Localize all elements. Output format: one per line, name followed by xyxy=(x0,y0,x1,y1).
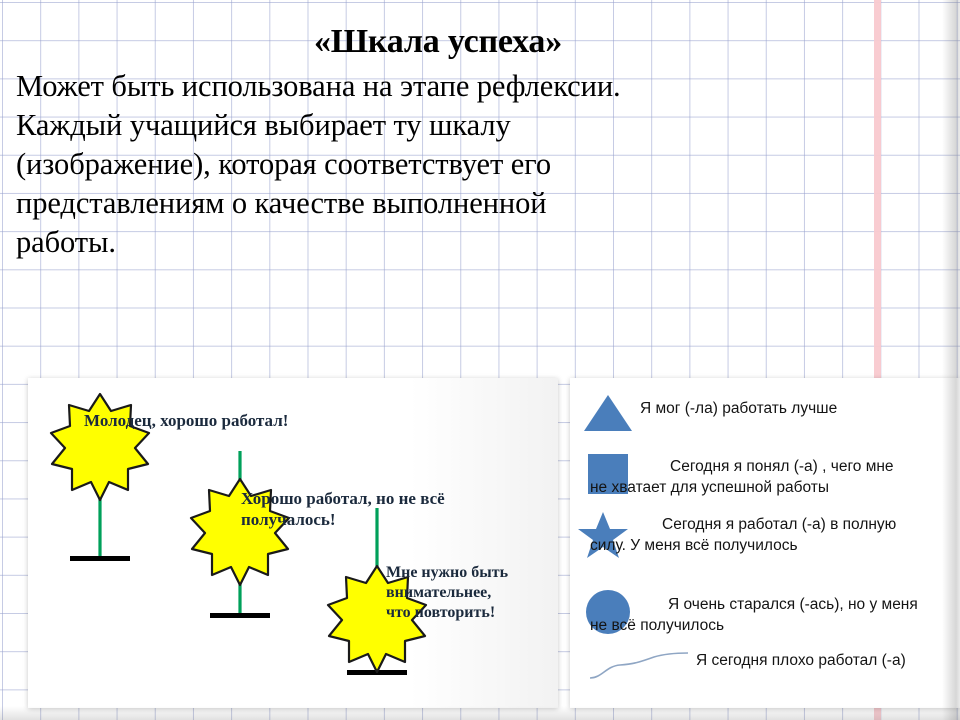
body-line-2: Каждый учащийся выбирает ту шкалу xyxy=(8,106,888,145)
triangle-icon xyxy=(582,392,634,434)
page-edge-shadow-bottom xyxy=(0,706,960,720)
wavy-line-icon xyxy=(588,650,698,682)
legend-text-wavy-line-1: Я сегодня плохо работал (-а) xyxy=(696,650,956,671)
shape-legend-panel: Я мог (-ла) работать лучше Сегодня я пон… xyxy=(570,378,960,708)
legend-text-square-line-1: Сегодня я понял (-а) , чего мне xyxy=(590,456,955,477)
legend-text-star-line-1: Сегодня я работал (-а) в полную xyxy=(590,514,955,535)
body-line-3: (изображение), которая соответствует его xyxy=(8,145,888,184)
legend-text-star: Сегодня я работал (-а) в полную силу. У … xyxy=(590,514,955,556)
legend-row-circle: Я очень старался (-ась), но у меня не вс… xyxy=(570,586,960,642)
page-title: «Шкала успеха» xyxy=(8,24,888,61)
star-scale-panel: Молодец, хорошо работал! Хорошо работал,… xyxy=(28,378,558,708)
slide-canvas: «Шкала успеха» Может быть использована н… xyxy=(0,0,960,720)
legend-text-square: Сегодня я понял (-а) , чего мне не хвата… xyxy=(590,456,955,498)
legend-row-triangle: Я мог (-ла) работать лучше xyxy=(570,388,960,433)
legend-text-triangle-line-1: Я мог (-ла) работать лучше xyxy=(640,398,955,419)
legend-text-square-line-2: не хватает для успешной работы xyxy=(590,477,955,498)
scale-label-low: Мне нужно быть внимательнее, что повтори… xyxy=(386,563,508,623)
scale-unit-medium xyxy=(176,443,306,633)
legend-text-circle: Я очень старался (-ась), но у меня не вс… xyxy=(590,594,958,636)
legend-text-circle-line-2: не всё получилось xyxy=(590,615,958,636)
legend-text-circle-line-1: Я очень старался (-ась), но у меня xyxy=(590,594,958,615)
scale-label-low-line-3: что повторить! xyxy=(386,603,508,623)
legend-text-star-line-2: силу. У меня всё получилось xyxy=(590,535,955,556)
legend-row-square: Сегодня я понял (-а) , чего мне не хвата… xyxy=(570,450,960,506)
legend-text-wavy: Я сегодня плохо работал (-а) xyxy=(696,650,956,671)
body-line-4: представлениям о качестве выполненной xyxy=(8,184,888,223)
scale-label-low-line-2: внимательнее, xyxy=(386,583,508,603)
scale-label-low-line-1: Мне нужно быть xyxy=(386,563,508,583)
legend-row-star: Сегодня я работал (-а) в полную силу. У … xyxy=(570,508,960,564)
text-block: «Шкала успеха» Может быть использована н… xyxy=(8,24,888,262)
scale-graphic-medium xyxy=(176,443,306,633)
scale-label-high: Молодец, хорошо работал! xyxy=(84,410,288,431)
body-line-5: работы. xyxy=(8,223,888,262)
body-line-1: Может быть использована на этапе рефлекс… xyxy=(8,67,888,106)
legend-text-triangle: Я мог (-ла) работать лучше xyxy=(640,398,955,419)
legend-row-wavy: Я сегодня плохо работал (-а) xyxy=(570,646,960,688)
